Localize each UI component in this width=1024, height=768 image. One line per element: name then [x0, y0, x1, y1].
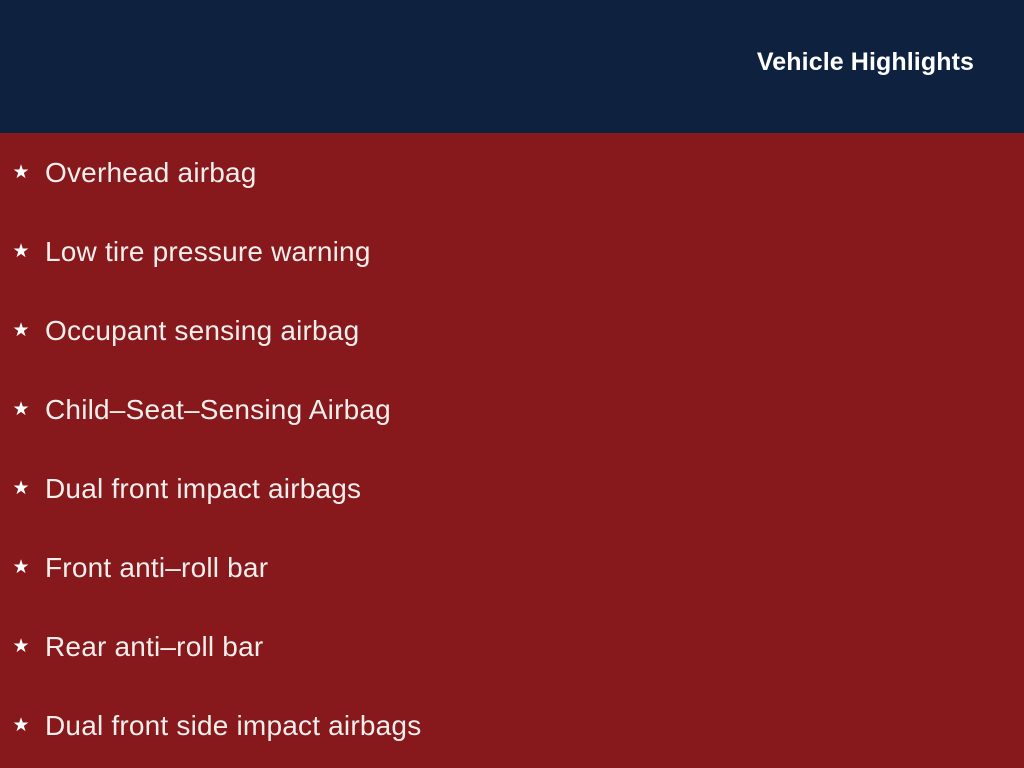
- star-bullet-icon: ★: [11, 133, 31, 212]
- list-item-label: Rear anti–roll bar: [45, 607, 263, 686]
- vehicle-highlights-slide: Vehicle Highlights ★ Overhead airbag ★ L…: [0, 0, 1024, 768]
- list-item: ★ Overhead airbag: [0, 133, 1024, 212]
- list-item-label: Front anti–roll bar: [45, 528, 268, 607]
- star-bullet-icon: ★: [11, 607, 31, 686]
- star-bullet-icon: ★: [11, 449, 31, 528]
- list-item-label: Low tire pressure warning: [45, 212, 371, 291]
- list-item: ★ Front anti–roll bar: [0, 528, 1024, 607]
- list-item: ★ Child–Seat–Sensing Airbag: [0, 370, 1024, 449]
- list-item-label: Child–Seat–Sensing Airbag: [45, 370, 391, 449]
- star-bullet-icon: ★: [11, 212, 31, 291]
- list-item: ★ Occupant sensing airbag: [0, 291, 1024, 370]
- star-bullet-icon: ★: [11, 686, 31, 765]
- star-bullet-icon: ★: [11, 291, 31, 370]
- list-item: ★ Dual front impact airbags: [0, 449, 1024, 528]
- list-item-label: Occupant sensing airbag: [45, 291, 359, 370]
- vehicle-highlights-list: ★ Overhead airbag ★ Low tire pressure wa…: [0, 133, 1024, 765]
- star-bullet-icon: ★: [11, 528, 31, 607]
- list-item-label: Dual front side impact airbags: [45, 686, 421, 765]
- star-bullet-icon: ★: [11, 370, 31, 449]
- list-item-label: Overhead airbag: [45, 133, 257, 212]
- header-band: Vehicle Highlights: [0, 0, 1024, 133]
- list-item-label: Dual front impact airbags: [45, 449, 361, 528]
- page-title: Vehicle Highlights: [757, 48, 974, 77]
- list-item: ★ Rear anti–roll bar: [0, 607, 1024, 686]
- list-item: ★ Dual front side impact airbags: [0, 686, 1024, 765]
- list-item: ★ Low tire pressure warning: [0, 212, 1024, 291]
